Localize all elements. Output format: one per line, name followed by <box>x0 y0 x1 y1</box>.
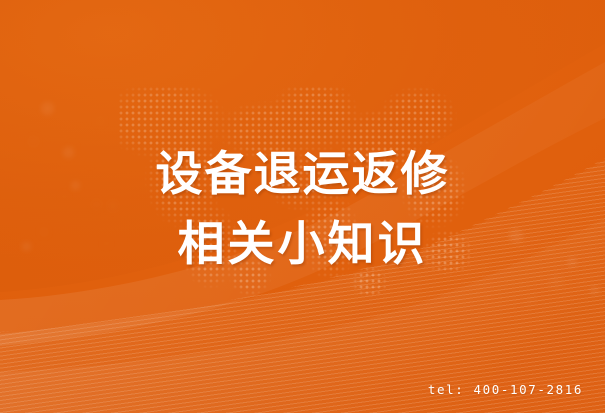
headline-line-1: 设备退运返修 <box>0 140 605 210</box>
poster-canvas: 设备退运返修 相关小知识 tel: 400-107-2816 <box>0 0 605 413</box>
contact-phone-text: tel: 400-107-2816 <box>428 382 583 397</box>
headline-block: 设备退运返修 相关小知识 <box>0 140 605 280</box>
headline-line-2: 相关小知识 <box>0 210 605 280</box>
